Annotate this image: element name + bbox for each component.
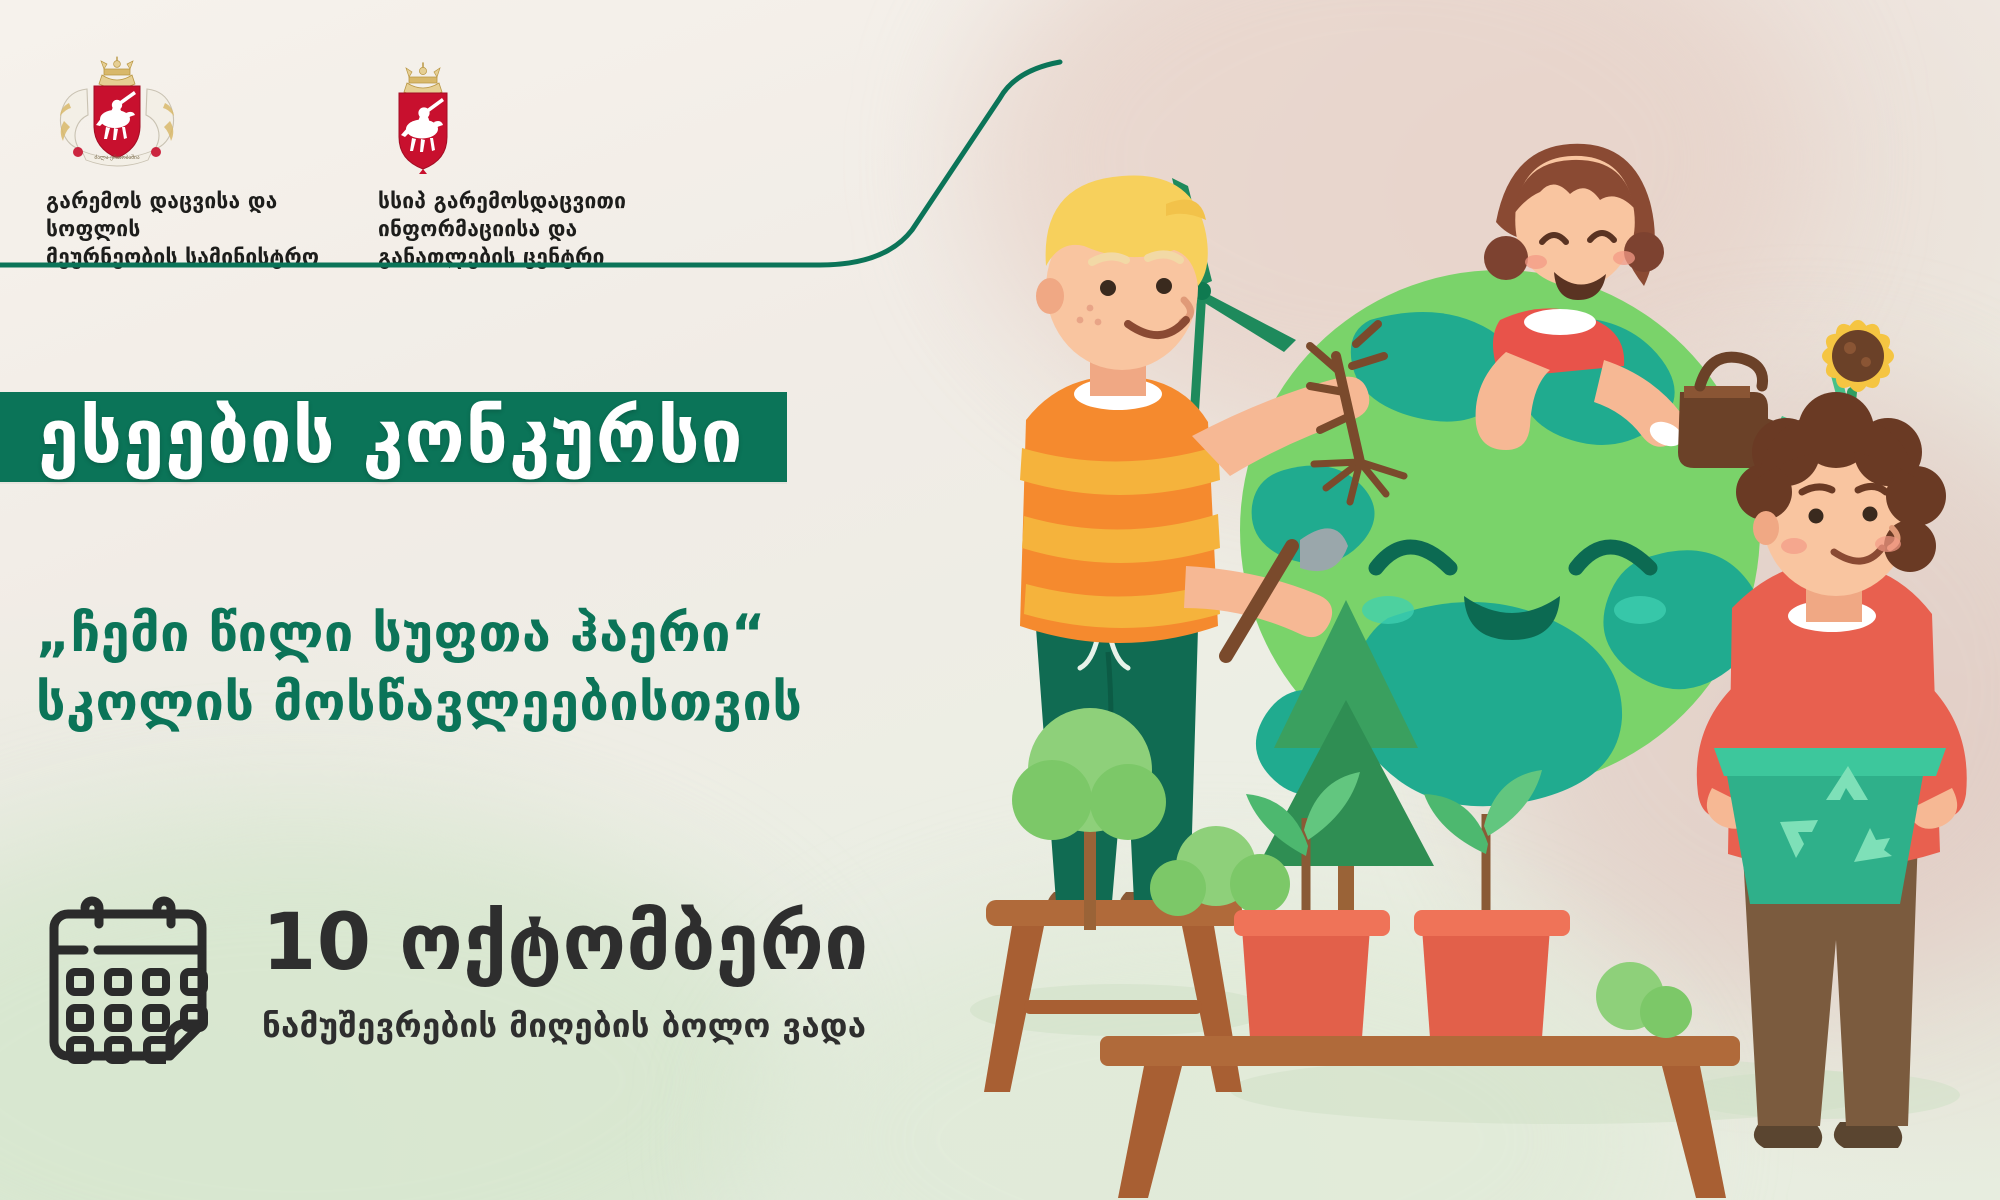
title-banner: ესეების კონკურსი — [0, 392, 787, 482]
calendar-icon — [28, 880, 228, 1080]
deadline-text: 10 ოქტომბერი ნამუშევრების მიღების ბოლო ვ… — [262, 880, 869, 1045]
deadline-caption: ნამუშევრების მიღების ბოლო ვადა — [262, 1006, 869, 1045]
header-curved-divider — [0, 60, 1060, 350]
deadline-block: 10 ოქტომბერი ნამუშევრების მიღების ბოლო ვ… — [28, 880, 869, 1080]
page-title: ესეების კონკურსი — [38, 400, 743, 474]
foreground-bush-icon — [1596, 962, 1692, 1038]
poster-canvas: ძალა ერთობაშია გარემოს დაცვისა და სოფლის… — [0, 0, 2000, 1200]
children-caring-for-earth-illustration — [940, 0, 2000, 1200]
deadline-date: 10 ოქტომბერი — [262, 904, 869, 982]
